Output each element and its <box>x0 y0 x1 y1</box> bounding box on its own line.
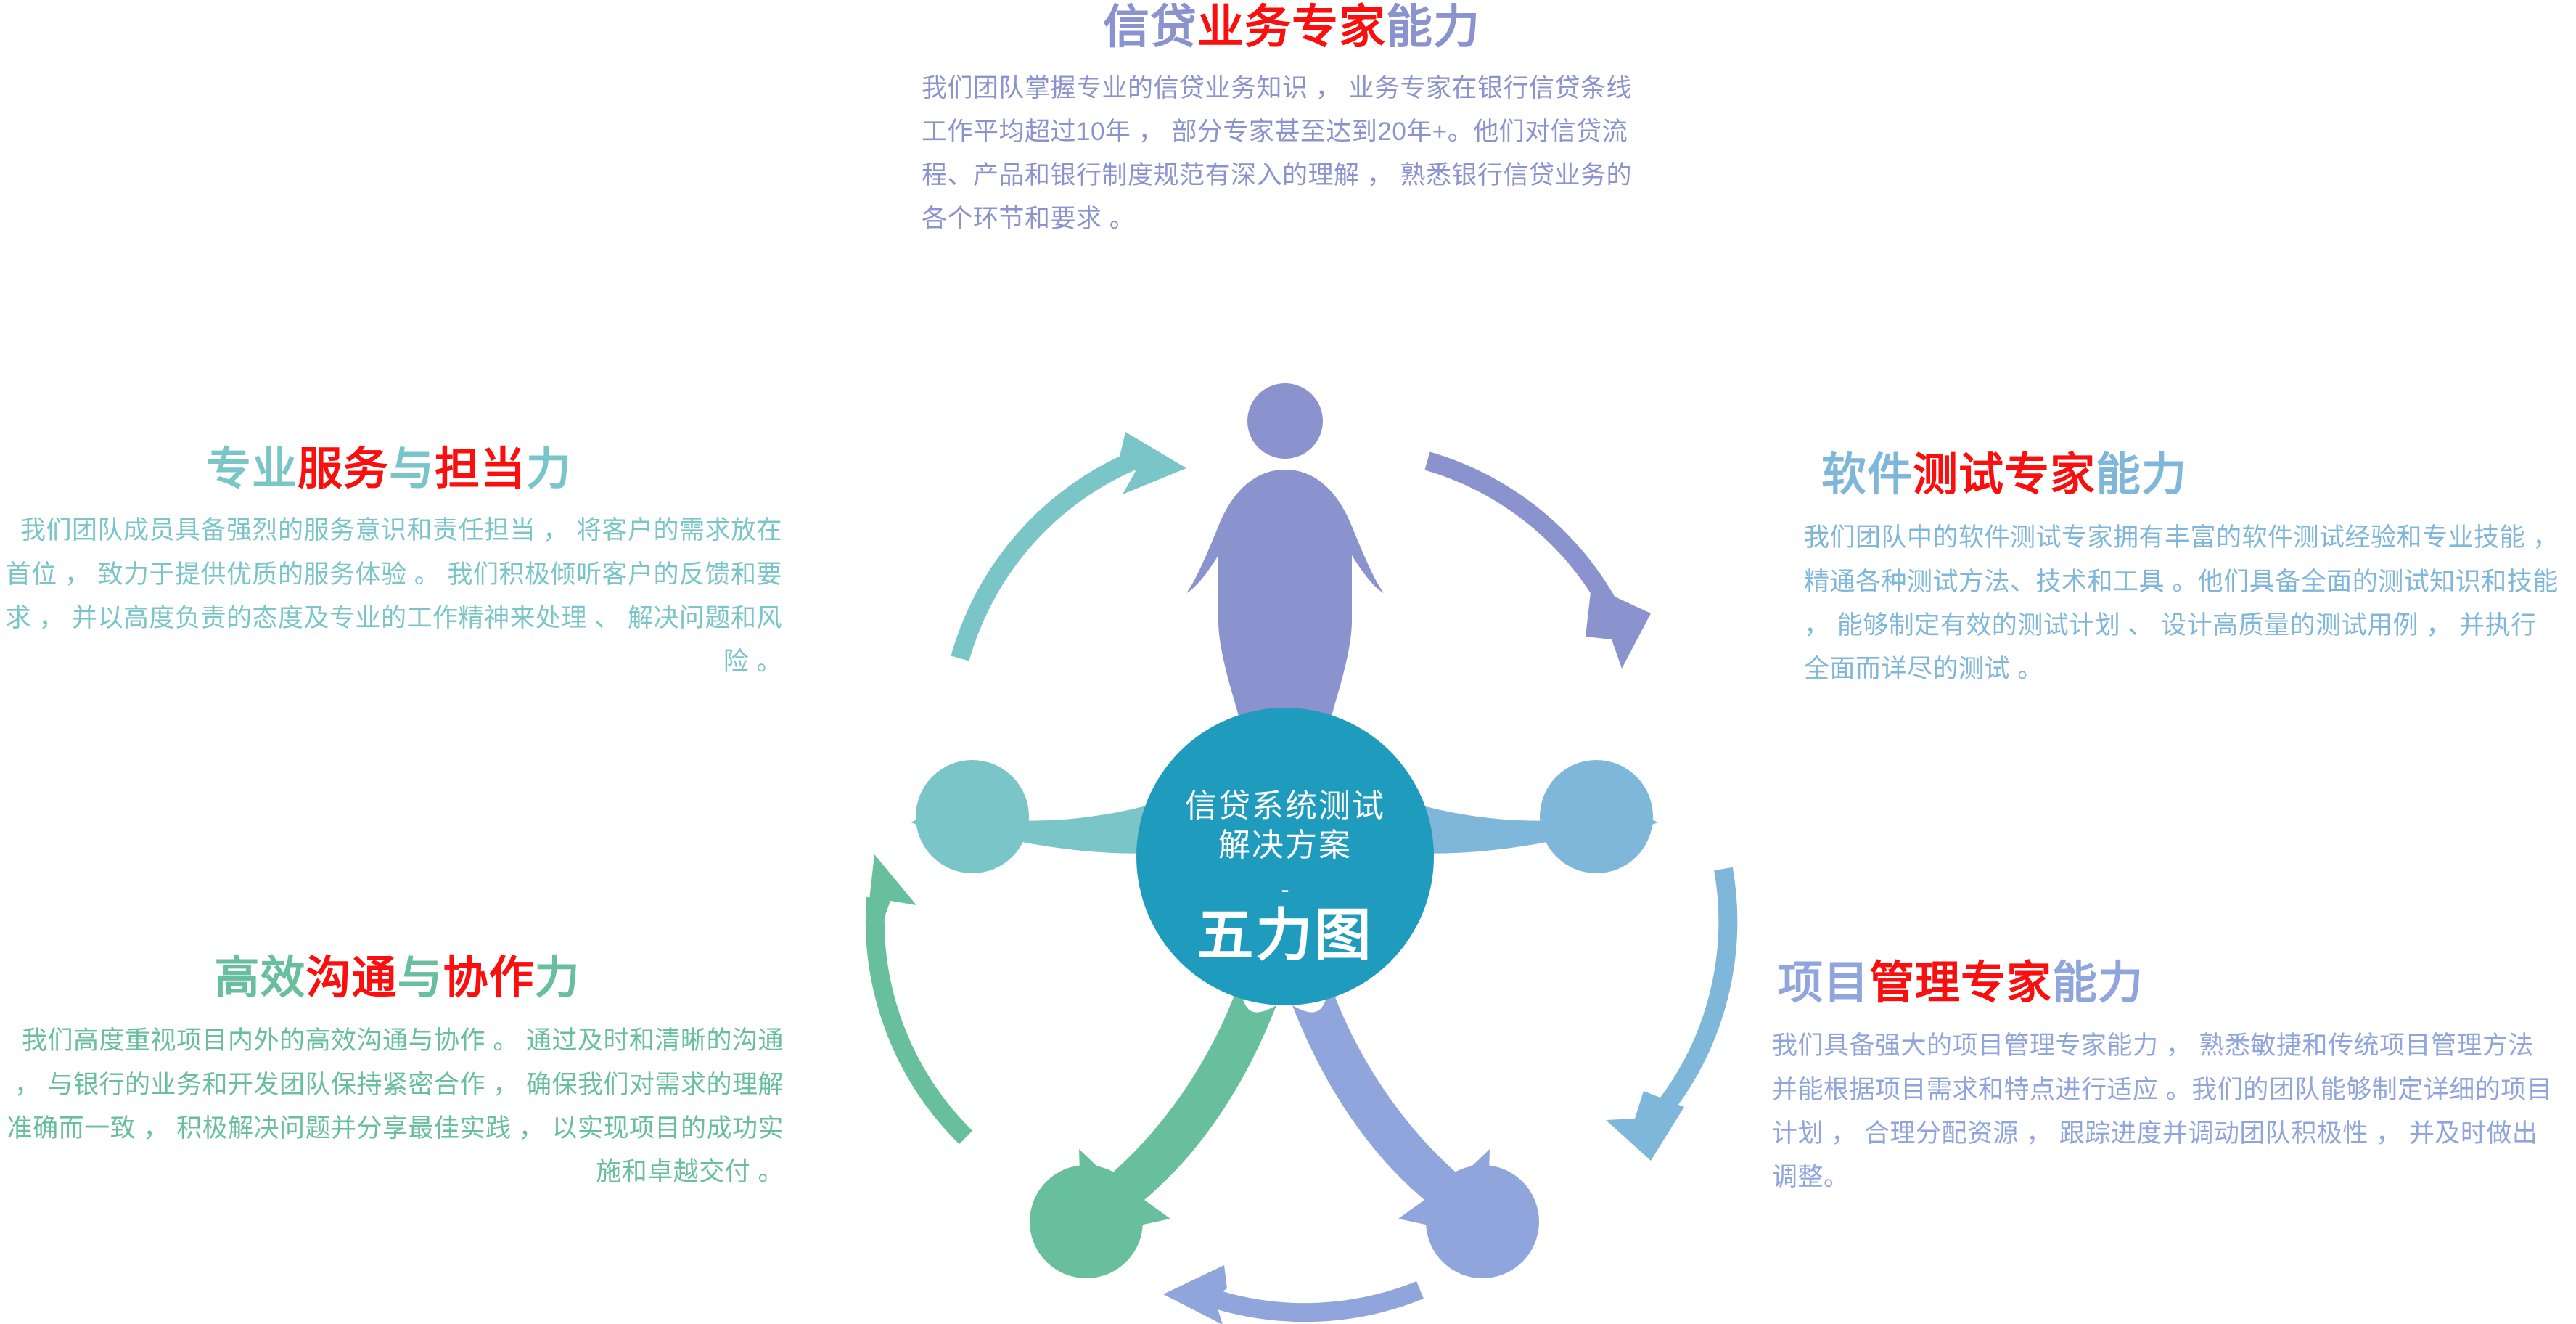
node-left <box>916 760 1029 873</box>
title-segment-1: 信贷 <box>1103 1 1197 53</box>
title-segment-3: 与 <box>397 953 443 1003</box>
title-segment-2: 管理专家 <box>1869 958 2052 1008</box>
title-segment-1: 项目 <box>1778 958 1869 1008</box>
title-segment-3: 能力 <box>1386 1 1480 53</box>
panel-software-testing-expertise: 软件测试专家能力 我们团队中的软件测试专家拥有丰富的软件测试经验和专业技能 ， … <box>1792 450 2576 691</box>
panel-communication-body: 我们高度重视项目内外的高效沟通与协作 。 通过及时和清晰的沟通 ， 与银行的业务… <box>0 1003 802 1194</box>
title-segment-5: 力 <box>526 444 572 494</box>
ring-arrow-top-right <box>1427 461 1651 669</box>
panel-communication-collaboration: 高效沟通与协作力 我们高度重视项目内外的高效沟通与协作 。 通过及时和清晰的沟通… <box>0 953 802 1194</box>
panel-service-body: 我们团队成员具备强烈的服务意识和责任担当 ， 将客户的需求放在首位 ， 致力于提… <box>0 494 791 684</box>
panel-credit-expertise: 信贷业务专家能力 我们团队掌握专业的信贷业务知识 ， 业务专家在银行信贷条线工作… <box>860 0 1723 241</box>
title-segment-2: 测试专家 <box>1913 450 2096 500</box>
node-right <box>1540 760 1653 873</box>
title-segment-3: 能力 <box>2096 450 2187 500</box>
ring-arrow-left <box>867 854 966 1137</box>
hub-line-1: 信贷系统测试 <box>1185 788 1385 824</box>
title-segment-2: 沟通 <box>305 953 397 1003</box>
panel-pm-body: 我们具备强大的项目管理专家能力 ， 熟悉敏捷和传统项目管理方法并能根据项目需求和… <box>1763 1008 2556 1199</box>
title-segment-1: 专业 <box>206 444 298 494</box>
title-segment-1: 软件 <box>1821 450 1913 500</box>
panel-qa-body: 我们团队中的软件测试专家拥有丰富的软件测试经验和专业技能 ， 精通各种测试方法、… <box>1792 500 2559 691</box>
title-segment-2: 业务专家 <box>1197 1 1386 53</box>
title-segment-4: 担当 <box>435 444 526 494</box>
title-segment-5: 力 <box>535 953 581 1003</box>
title-segment-1: 高效 <box>214 953 305 1003</box>
hub-separator: - <box>1281 876 1289 904</box>
node-bottom-right <box>1426 1165 1539 1278</box>
ring-arrow-top-left <box>960 432 1186 658</box>
panel-communication-title: 高效沟通与协作力 <box>0 953 802 1003</box>
ring-arrow-right <box>1606 869 1728 1161</box>
panel-credit-body: 我们团队掌握专业的信贷业务知识 ， 业务专家在银行信贷条线工作平均超过10年 ，… <box>860 54 1654 242</box>
title-segment-2: 服务 <box>298 444 389 494</box>
panel-pm-title: 项目管理专家能力 <box>1763 958 2576 1008</box>
panel-qa-title: 软件测试专家能力 <box>1792 450 2576 500</box>
hub-line-2: 解决方案 <box>1218 827 1352 863</box>
panel-service-responsibility: 专业服务与担当力 我们团队成员具备强烈的服务意识和责任担当 ， 将客户的需求放在… <box>0 444 791 684</box>
panel-project-management-expertise: 项目管理专家能力 我们具备强大的项目管理专家能力 ， 熟悉敏捷和传统项目管理方法… <box>1763 958 2576 1199</box>
title-segment-3: 能力 <box>2052 958 2144 1008</box>
panel-credit-title: 信贷业务专家能力 <box>860 0 1723 54</box>
ring-arrow-bottom <box>1163 1265 1420 1324</box>
panel-service-title: 专业服务与担当力 <box>0 444 791 494</box>
five-forces-diagram: 信贷系统测试 解决方案 - 五力图 <box>795 381 1774 1324</box>
title-segment-4: 协作 <box>443 953 535 1003</box>
hub-line-3: 五力图 <box>1197 903 1373 967</box>
title-segment-3: 与 <box>389 444 435 494</box>
node-bottom-left <box>1030 1165 1143 1278</box>
